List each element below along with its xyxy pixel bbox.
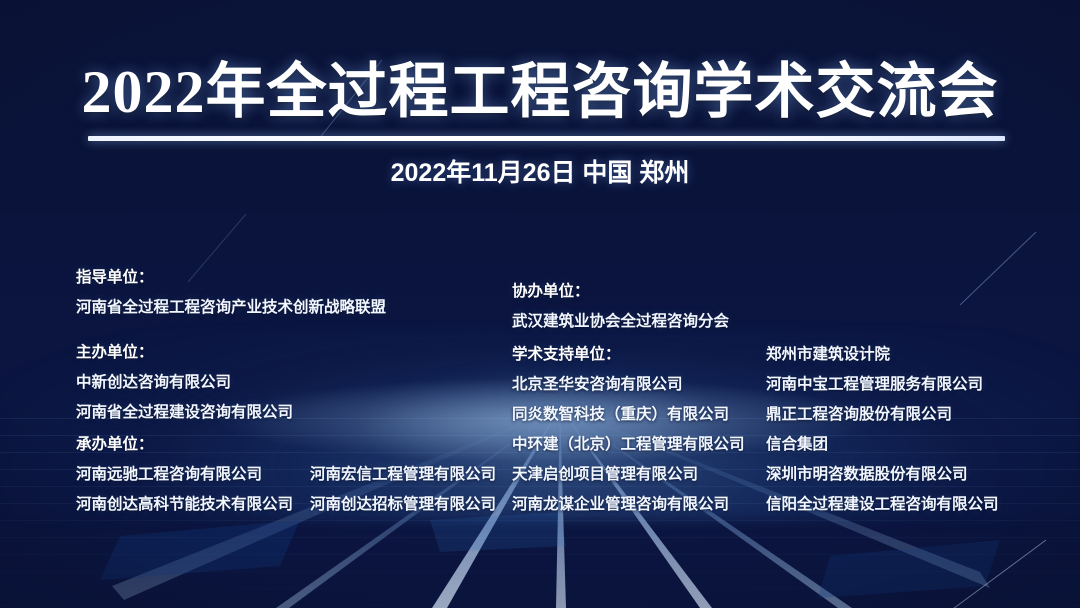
left-group-1-header: 主办单位： xyxy=(76,343,154,363)
middle-group-1-entry-2: 中环建（北京）工程管理有限公司 xyxy=(512,435,745,455)
left-group-2-entry-1-secondary: 河南创达招标管理有限公司 xyxy=(310,495,496,515)
left-group-0-header: 指导单位： xyxy=(76,268,154,288)
middle-group-1-entry-3: 天津启创项目管理有限公司 xyxy=(512,465,698,485)
left-group-1-entry-1: 河南省全过程建设咨询有限公司 xyxy=(76,403,293,423)
middle-group-1-entry-0: 北京圣华安咨询有限公司 xyxy=(512,375,683,395)
right-entry-3: 信合集团 xyxy=(766,435,828,455)
right-entry-1: 河南中宝工程管理服务有限公司 xyxy=(766,375,983,395)
organization-columns: 指导单位： 河南省全过程工程咨询产业技术创新战略联盟 主办单位： 中新创达咨询有… xyxy=(0,0,1080,608)
left-group-1-entry-0: 中新创达咨询有限公司 xyxy=(76,373,231,393)
left-group-0-entry-0: 河南省全过程工程咨询产业技术创新战略联盟 xyxy=(76,298,386,318)
middle-group-1-entry-4: 河南龙谋企业管理咨询有限公司 xyxy=(512,495,729,515)
middle-group-0-header: 协办单位： xyxy=(512,282,590,302)
left-group-2-header: 承办单位： xyxy=(76,435,154,455)
right-entry-0: 郑州市建筑设计院 xyxy=(766,345,890,365)
left-group-2-entry-0-secondary: 河南宏信工程管理有限公司 xyxy=(310,465,496,485)
right-entry-4: 深圳市明咨数据股份有限公司 xyxy=(766,465,968,485)
middle-group-0-entry-0: 武汉建筑业协会全过程咨询分会 xyxy=(512,312,729,332)
left-group-2-entry-1-primary: 河南创达高科节能技术有限公司 xyxy=(76,495,293,515)
right-entry-2: 鼎正工程咨询股份有限公司 xyxy=(766,405,952,425)
middle-group-1-header: 学术支持单位： xyxy=(512,345,621,365)
right-entry-5: 信阳全过程建设工程咨询有限公司 xyxy=(766,495,999,515)
left-group-2-entry-0-primary: 河南远驰工程咨询有限公司 xyxy=(76,465,262,485)
poster-canvas: 2022年全过程工程咨询学术交流会 2022年11月26日 中国 郑州 指导单位… xyxy=(0,0,1080,608)
middle-group-1-entry-1: 同炎数智科技（重庆）有限公司 xyxy=(512,405,729,425)
